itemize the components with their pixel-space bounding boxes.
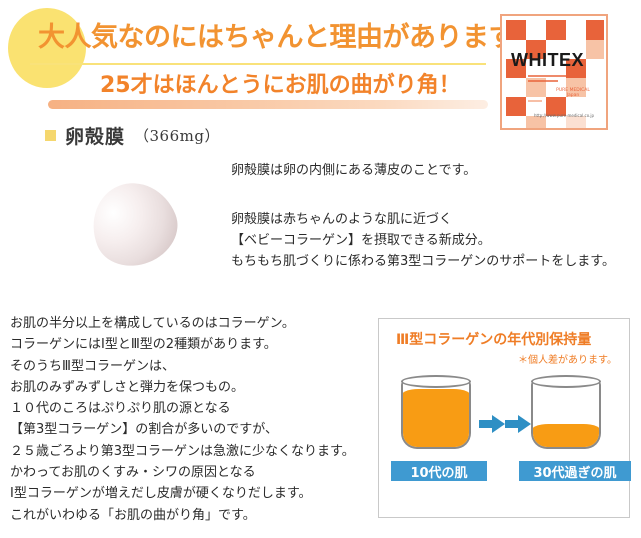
square-bullet-icon — [45, 130, 56, 141]
collagen-line: お肌の半分以上を構成しているのはコラーゲン。 — [10, 313, 355, 334]
eggshell-definition-text: 卵殻膜は卵の内側にある薄皮のことです。 — [231, 160, 476, 181]
benefit-line: もちもち肌づくりに係わる第3型コラーゲンのサポートをします。 — [231, 251, 615, 272]
chart-category-label: 30代過ぎの肌 — [519, 461, 631, 481]
title-divider — [30, 63, 486, 65]
chart-category-label: 10代の肌 — [391, 461, 487, 481]
collagen-line: これがいわゆる「お肌の曲がり角」です。 — [10, 505, 355, 526]
collagen-line: かわってお肌のくすみ・シワの原因となる — [10, 462, 355, 483]
ingredient-dose: （366mg） — [134, 125, 220, 146]
collagen-line: ２５歳ごろより第3型コラーゲンは急激に少なくなります。 — [10, 441, 355, 462]
collagen-explanation-text: お肌の半分以上を構成しているのはコラーゲン。 コラーゲンにはⅠ型とⅢ型の2種類が… — [10, 313, 355, 526]
package-maker-logo: PURE MEDICAL Japan — [554, 88, 592, 102]
product-package-image: WHITEX PURE MEDICAL Japan http://www.pur… — [500, 14, 608, 130]
collagen-line: そのうちⅢ型コラーゲンは、 — [10, 356, 355, 377]
ingredient-heading: 卵殻膜 （366mg） — [45, 122, 220, 148]
collagen-line: １０代のころはぷりぷり肌の源となる — [10, 398, 355, 419]
package-checkerboard: WHITEX PURE MEDICAL Japan http://www.pur… — [506, 20, 602, 124]
fill-surface-wave — [531, 424, 601, 438]
chart-disclaimer-note: ＊個人差があります。 — [518, 351, 617, 366]
chart-title: Ⅲ型コラーゲンの年代別保持量 — [396, 329, 626, 349]
eggshell-photo — [80, 170, 189, 277]
page-title: 大人気なのにはちゃんと理由があります！ — [38, 18, 498, 58]
package-brand-name: WHITEX — [511, 50, 589, 70]
glass-rim — [401, 375, 471, 388]
package-url: http://www.pure-medical.co.jp — [534, 113, 606, 119]
glass-rim — [531, 375, 601, 388]
collagen-line: 【第3型コラーゲン】の割合が多いのですが、 — [10, 419, 355, 440]
collagen-fill-level — [533, 431, 599, 447]
subtitle-accent-bar — [48, 100, 488, 109]
collagen-fill-level — [403, 396, 469, 447]
collagen-line: Ⅰ型コラーゲンが増えだし皮膚が硬くなりだします。 — [10, 483, 355, 504]
page-subtitle: 25才はほんとうにお肌の曲がり角！ — [100, 72, 500, 100]
package-maker-region: Japan — [554, 93, 592, 98]
benefit-line: 【ベビーコラーゲン】を摂取できる新成分。 — [231, 230, 615, 251]
fill-surface-wave — [401, 389, 471, 403]
glass-body — [531, 381, 601, 449]
ingredient-name: 卵殻膜 — [65, 122, 125, 149]
collagen-line: お肌のみずみずしさと弾力を保つもの。 — [10, 377, 355, 398]
glass-older-skin — [531, 375, 601, 449]
benefit-line: 卵殻膜は赤ちゃんのような肌に近づく — [231, 209, 615, 230]
eggshell-benefit-text: 卵殻膜は赤ちゃんのような肌に近づく 【ベビーコラーゲン】を摂取できる新成分。 も… — [231, 209, 615, 272]
collagen-retention-chart: Ⅲ型コラーゲンの年代別保持量 ＊個人差があります。 10代の肌 30代過ぎの肌 — [378, 318, 630, 518]
right-arrow-icon — [479, 415, 505, 433]
glass-young-skin — [401, 375, 471, 449]
right-arrow-icon — [505, 415, 531, 433]
glass-body — [401, 381, 471, 449]
collagen-line: コラーゲンにはⅠ型とⅢ型の2種類があります。 — [10, 334, 355, 355]
